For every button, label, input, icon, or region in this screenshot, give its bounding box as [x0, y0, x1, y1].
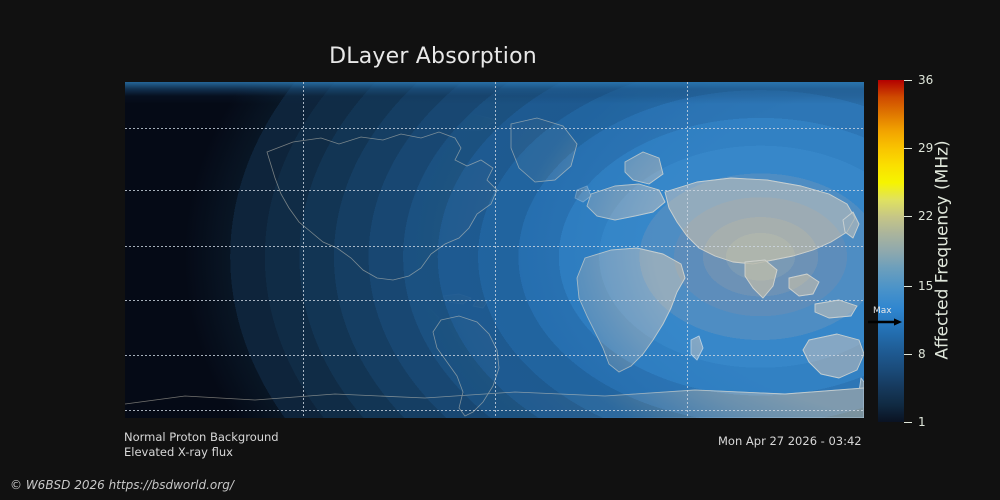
colorbar-tick	[904, 80, 912, 81]
dlayer-absorption-page: DLayer Absorption	[0, 0, 1000, 500]
colorbar-tick	[904, 354, 912, 355]
colorbar-gradient	[878, 80, 904, 422]
max-marker-label: Max	[873, 306, 892, 316]
copyright-notice: © W6BSD 2026 https://bsdworld.org/	[10, 478, 234, 492]
colorbar-tick	[904, 216, 912, 217]
world-map-plot[interactable]	[125, 82, 864, 418]
proton-status-note: Normal Proton Background	[124, 430, 279, 444]
timestamp: Mon Apr 27 2026 - 03:42	[718, 434, 862, 448]
colorbar[interactable]: 36 29 22 15 8 1	[878, 80, 904, 422]
max-arrow-icon	[868, 318, 908, 326]
colorbar-axis-title: Affected Frequency (MHz)	[930, 0, 956, 500]
xray-status-note: Elevated X-ray flux	[124, 445, 233, 459]
colorbar-tick	[904, 286, 912, 287]
world-coastlines-overlay	[125, 82, 864, 418]
page-title: DLayer Absorption	[0, 44, 866, 69]
colorbar-label-1: 1	[918, 415, 926, 429]
colorbar-axis-title-text: Affected Frequency (MHz)	[933, 140, 953, 359]
colorbar-tick	[904, 148, 912, 149]
colorbar-tick	[904, 422, 912, 423]
colorbar-max-marker: Max	[868, 306, 912, 326]
colorbar-label-8: 8	[918, 347, 926, 361]
